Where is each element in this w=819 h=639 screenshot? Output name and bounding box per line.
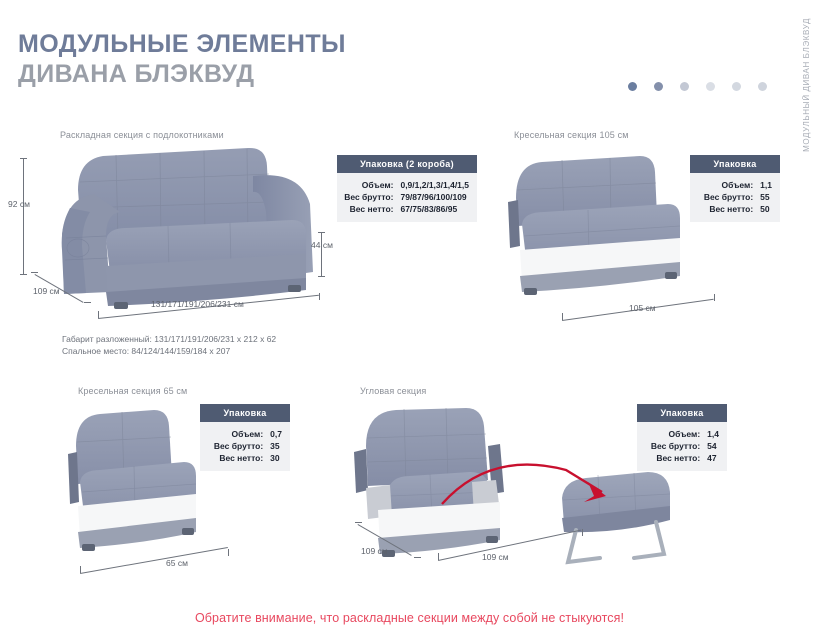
measure-line-height-1 [23, 158, 24, 274]
package-key: Объем: [214, 428, 270, 440]
package-value: 50 [760, 203, 772, 215]
illustration-armchair-105 [500, 150, 690, 315]
dim-depth-109: 109 см [33, 286, 60, 296]
package-title-3: Упаковка [200, 404, 290, 422]
package-value: 67/75/83/86/95 [400, 203, 469, 215]
package-title-1: Упаковка (2 короба) [337, 155, 477, 173]
package-value: 1,1 [760, 179, 772, 191]
spec-sleeping-place: Спальное место: 84/124/144/159/184 x 207 [62, 345, 276, 357]
measure-cap-depth-4b [414, 557, 421, 558]
package-key: Объем: [651, 428, 707, 440]
page-title-line-1: МОДУЛЬНЫЕ ЭЛЕМЕНТЫ [18, 30, 346, 60]
package-key: Вес брутто: [214, 440, 270, 452]
dim-seat-height-44: 44 см [311, 240, 333, 250]
package-key: Вес брутто: [651, 440, 707, 452]
package-title-2: Упаковка [690, 155, 780, 173]
pagination-dot-3[interactable] [680, 82, 689, 91]
package-key: Вес нетто: [651, 452, 707, 464]
caption-armchair-65: Кресельная секция 65 см [78, 386, 187, 396]
package-value: 79/87/96/100/109 [400, 191, 469, 203]
package-row: Объем: 1,1 [704, 179, 772, 191]
package-row: Вес брутто: 35 [214, 440, 282, 452]
page-title-line-2: ДИВАНА БЛЭКВУД [18, 60, 346, 90]
package-value: 55 [760, 191, 772, 203]
footer-warning: Обратите внимание, что раскладные секции… [0, 611, 819, 625]
package-key: Вес нетто: [214, 452, 270, 464]
dim-width-105: 105 см [629, 303, 656, 313]
package-value: 35 [270, 440, 282, 452]
spec-unfolded-dimensions: Габарит разложенный: 131/171/191/206/231… [62, 333, 276, 345]
package-key: Вес брутто: [704, 191, 760, 203]
dim-width-folding: 131/171/191/206/231 см [151, 299, 244, 309]
package-row: Вес нетто: 47 [651, 452, 719, 464]
package-panel-armchair-65: Упаковка Объем: 0,7 Вес брутто: 35 Вес н… [200, 404, 290, 471]
package-panel-folding-section: Упаковка (2 короба) Объем: 0,9/1,2/1,3/1… [337, 155, 477, 222]
package-row: Вес нетто: 30 [214, 452, 282, 464]
package-row: Вес нетто: 67/75/83/86/95 [344, 203, 469, 215]
package-value: 0,9/1,2/1,3/1,4/1,5 [400, 179, 469, 191]
specs-folding-section: Габарит разложенный: 131/171/191/206/231… [62, 333, 276, 358]
pagination-dot-4[interactable] [706, 82, 715, 91]
caption-folding-section: Раскладная секция с подлокотниками [60, 130, 224, 140]
measure-cap-width-3b [228, 549, 229, 556]
package-value: 30 [270, 452, 282, 464]
measure-cap-width-2b [714, 294, 715, 301]
package-row: Объем: 0,7 [214, 428, 282, 440]
package-row: Вес брутто: 79/87/96/100/109 [344, 191, 469, 203]
side-vertical-label: МОДУЛЬНЫЙ ДИВАН БЛЭКВУД [795, 18, 817, 228]
caption-armchair-105: Кресельная секция 105 см [514, 130, 629, 140]
side-vertical-label-text: МОДУЛЬНЫЙ ДИВАН БЛЭКВУД [802, 18, 811, 152]
package-title-4: Упаковка [637, 404, 727, 422]
package-row: Объем: 1,4 [651, 428, 719, 440]
caption-corner-section: Угловая секция [360, 386, 426, 396]
package-table-1: Объем: 0,9/1,2/1,3/1,4/1,5 Вес брутто: 7… [344, 179, 469, 215]
dim-corner-depth-109: 109 см [361, 546, 388, 556]
package-panel-armchair-105: Упаковка Объем: 1,1 Вес брутто: 55 Вес н… [690, 155, 780, 222]
pagination-dot-6[interactable] [758, 82, 767, 91]
pagination-dot-1[interactable] [628, 82, 637, 91]
measure-cap-seat-bottom [318, 276, 325, 277]
package-key: Вес брутто: [344, 191, 400, 203]
dim-height-92: 92 см [8, 199, 30, 209]
measure-cap-depth-1b [84, 302, 91, 303]
transform-arrow-icon [436, 440, 626, 520]
package-panel-corner-section: Упаковка Объем: 1,4 Вес брутто: 54 Вес н… [637, 404, 727, 471]
package-table-4: Объем: 1,4 Вес брутто: 54 Вес нетто: 47 [651, 428, 719, 464]
package-value: 1,4 [707, 428, 719, 440]
package-value: 54 [707, 440, 719, 452]
illustration-armchair-65 [62, 404, 207, 564]
measure-cap-width-1b [319, 293, 320, 300]
dim-width-65: 65 см [166, 558, 188, 568]
package-row: Вес брутто: 54 [651, 440, 719, 452]
package-key: Вес нетто: [344, 203, 400, 215]
dim-corner-width-109: 109 см [482, 552, 509, 562]
package-row: Объем: 0,9/1,2/1,3/1,4/1,5 [344, 179, 469, 191]
package-row: Вес нетто: 50 [704, 203, 772, 215]
measure-cap-height-bottom-1 [20, 274, 27, 275]
measure-line-seat [321, 232, 322, 276]
measure-cap-width-4b [582, 529, 583, 536]
pagination-dot-5[interactable] [732, 82, 741, 91]
package-key: Вес нетто: [704, 203, 760, 215]
pagination-dots[interactable] [628, 82, 767, 91]
package-value: 47 [707, 452, 719, 464]
package-row: Вес брутто: 55 [704, 191, 772, 203]
page-title: МОДУЛЬНЫЕ ЭЛЕМЕНТЫ ДИВАНА БЛЭКВУД [18, 30, 346, 89]
measure-cap-depth-4a [355, 522, 362, 523]
package-table-3: Объем: 0,7 Вес брутто: 35 Вес нетто: 30 [214, 428, 282, 464]
package-key: Объем: [344, 179, 400, 191]
package-key: Объем: [704, 179, 760, 191]
pagination-dot-2[interactable] [654, 82, 663, 91]
illustration-folding-sofa [48, 142, 348, 312]
catalog-page: МОДУЛЬНЫЕ ЭЛЕМЕНТЫ ДИВАНА БЛЭКВУД МОДУЛЬ… [0, 0, 819, 639]
package-value: 0,7 [270, 428, 282, 440]
package-table-2: Объем: 1,1 Вес брутто: 55 Вес нетто: 50 [704, 179, 772, 215]
